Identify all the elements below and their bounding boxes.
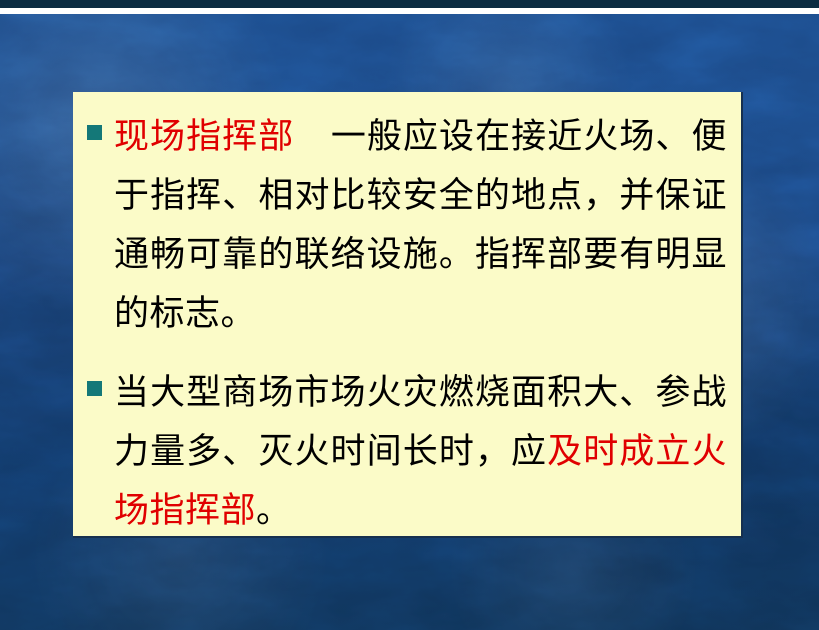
bullet-text-1: 现场指挥部一般应设在接近火场、便于指挥、相对比较安全的地点，并保证通畅可靠的联络…: [114, 108, 727, 344]
content-panel: 现场指挥部一般应设在接近火场、便于指挥、相对比较安全的地点，并保证通畅可靠的联络…: [73, 92, 743, 538]
top-decorative-band: [0, 0, 819, 8]
bullet-2-run-black-tail: 。: [256, 491, 292, 531]
bullet-text-2: 当大型商场市场火灾燃烧面积大、参战力量多、灭火时间长时，应及时成立火场指挥部。: [114, 364, 727, 541]
square-bullet-icon: [87, 381, 102, 396]
presentation-slide: 现场指挥部一般应设在接近火场、便于指挥、相对比较安全的地点，并保证通畅可靠的联络…: [0, 0, 819, 630]
bullet-item: 当大型商场市场火灾燃烧面积大、参战力量多、灭火时间长时，应及时成立火场指挥部。: [87, 364, 727, 541]
bullet-1-run-red: 现场指挥部: [114, 117, 294, 157]
bullet-item: 现场指挥部一般应设在接近火场、便于指挥、相对比较安全的地点，并保证通畅可靠的联络…: [87, 108, 727, 344]
square-bullet-icon: [87, 125, 102, 140]
